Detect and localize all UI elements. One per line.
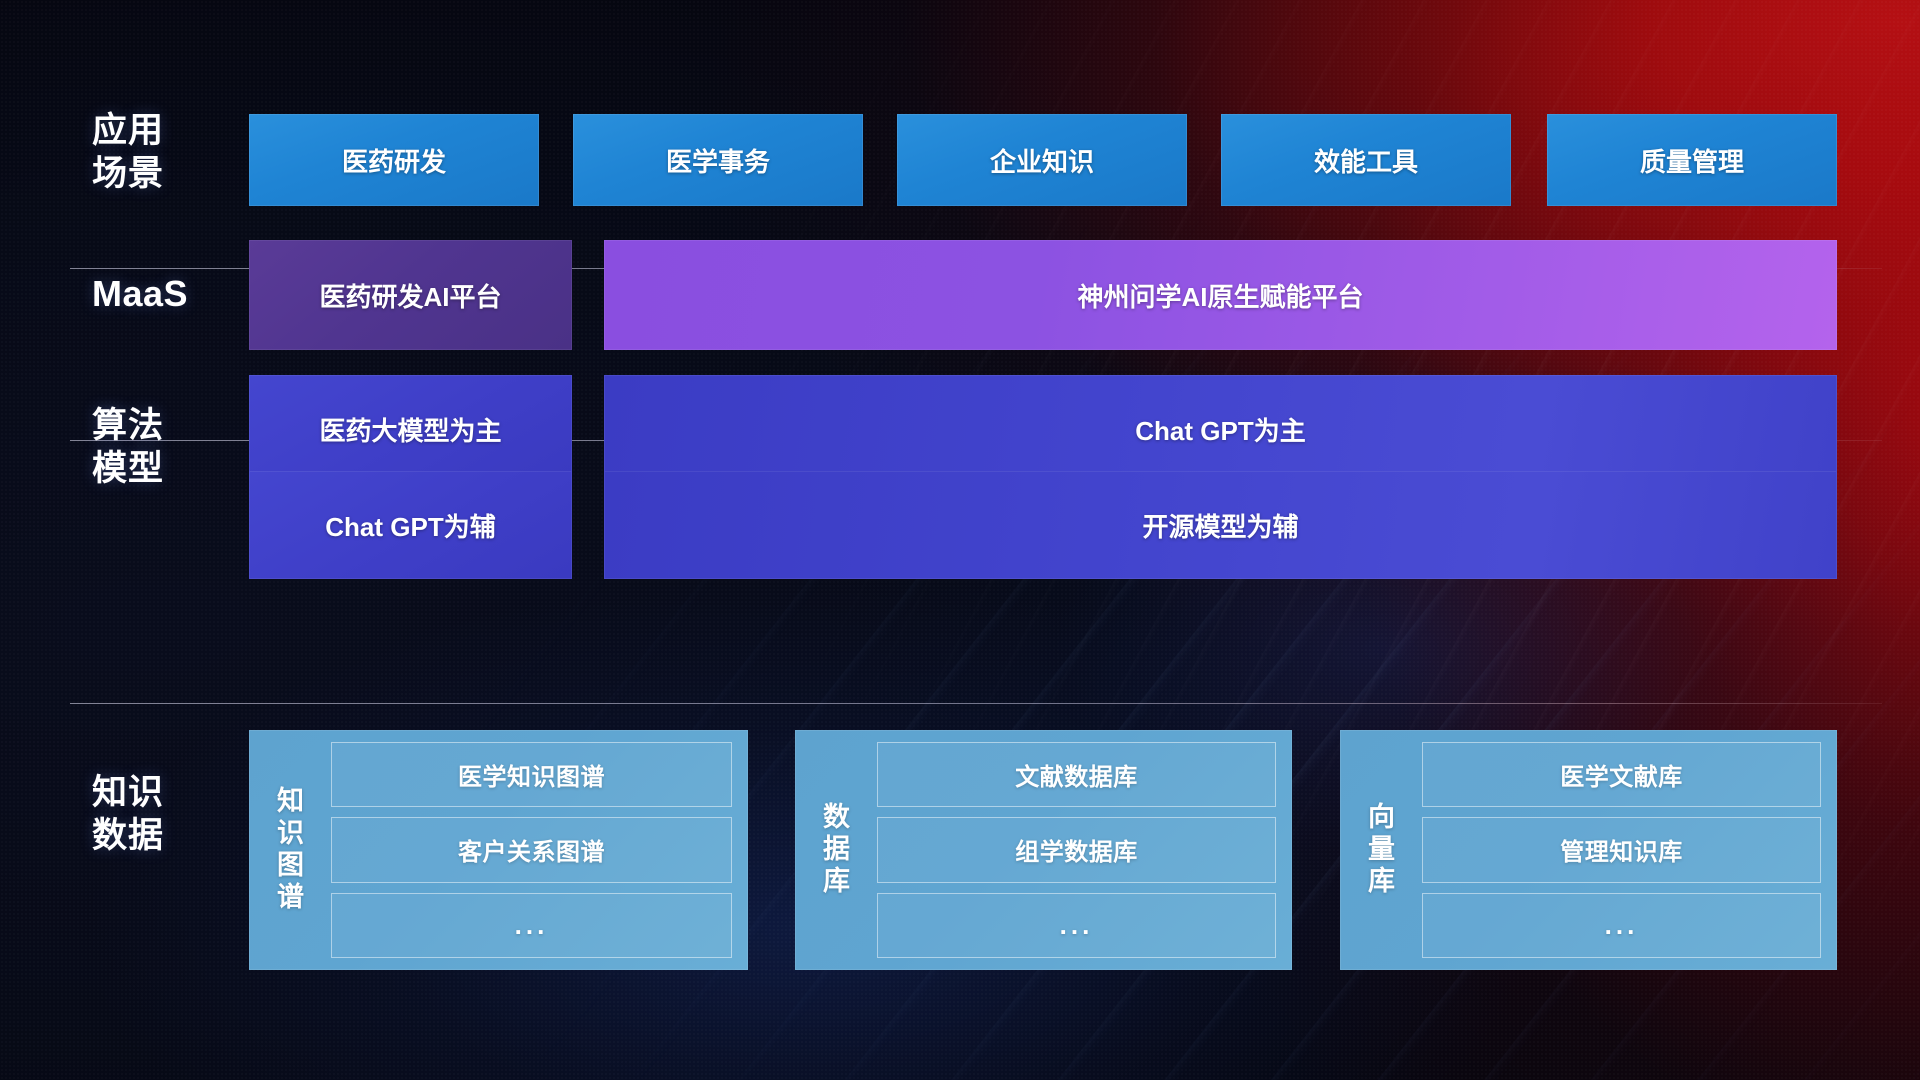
app-scenario-box[interactable]: 质量管理 (1547, 114, 1837, 206)
algorithm-label: Chat GPT为主 (1135, 411, 1305, 448)
row-label-maas: MaaS (92, 272, 232, 316)
app-scenario-box[interactable]: 企业知识 (897, 114, 1187, 206)
knowledge-item-more[interactable]: ... (331, 893, 732, 958)
algorithm-label: 医药大模型为主 (319, 411, 501, 448)
maas-platform-box-right[interactable]: 神州问学AI原生赋能平台 (604, 240, 1837, 350)
row-label-knowledge: 知识数据 (92, 772, 232, 857)
maas-platform-box-left[interactable]: 医药研发AI平台 (249, 240, 572, 350)
knowledge-group-title: 向量库 (1350, 802, 1414, 898)
row-label-algorithm: 算法模型 (92, 405, 232, 490)
algorithm-box-row1-left[interactable]: 医药大模型为主 (249, 375, 572, 483)
algorithm-box-row2-right[interactable]: 开源模型为辅 (604, 471, 1837, 579)
app-scenario-label: 企业知识 (990, 142, 1094, 179)
app-scenario-box[interactable]: 效能工具 (1221, 114, 1511, 206)
knowledge-item[interactable]: 文献数据库 (877, 742, 1276, 807)
algorithm-box-row1-right[interactable]: Chat GPT为主 (604, 375, 1837, 483)
maas-platform-label: 医药研发AI平台 (319, 277, 501, 314)
knowledge-item[interactable]: 医学文献库 (1422, 742, 1821, 807)
knowledge-group-items: 医学知识图谱 客户关系图谱 ... (323, 742, 732, 958)
algorithm-label: Chat GPT为辅 (325, 507, 495, 544)
knowledge-group-items: 医学文献库 管理知识库 ... (1414, 742, 1821, 958)
app-scenario-label: 效能工具 (1314, 142, 1418, 179)
algorithm-box-row2-left[interactable]: Chat GPT为辅 (249, 471, 572, 579)
algorithm-label: 开源模型为辅 (1142, 507, 1298, 544)
app-scenario-label: 质量管理 (1640, 142, 1744, 179)
knowledge-group[interactable]: 知识图谱 医学知识图谱 客户关系图谱 ... (249, 730, 748, 970)
knowledge-item-more[interactable]: ... (877, 893, 1276, 958)
knowledge-item[interactable]: 管理知识库 (1422, 817, 1821, 882)
app-scenario-box[interactable]: 医学事务 (573, 114, 863, 206)
row-label-application: 应用场景 (92, 110, 232, 195)
knowledge-item[interactable]: 组学数据库 (877, 817, 1276, 882)
knowledge-group[interactable]: 数据库 文献数据库 组学数据库 ... (795, 730, 1292, 970)
infographic-slide: 应用场景 MaaS 算法模型 知识数据 医药研发 医学事务 企业知识 效能工具 … (0, 0, 1920, 1080)
knowledge-item[interactable]: 客户关系图谱 (331, 817, 732, 882)
row-divider-3 (70, 703, 1882, 704)
knowledge-item-more[interactable]: ... (1422, 893, 1821, 958)
knowledge-item[interactable]: 医学知识图谱 (331, 742, 732, 807)
knowledge-group[interactable]: 向量库 医学文献库 管理知识库 ... (1340, 730, 1837, 970)
knowledge-group-title: 数据库 (805, 802, 869, 898)
app-scenario-label: 医药研发 (342, 142, 446, 179)
maas-platform-label: 神州问学AI原生赋能平台 (1077, 277, 1363, 314)
app-scenario-box[interactable]: 医药研发 (249, 114, 539, 206)
knowledge-group-items: 文献数据库 组学数据库 ... (869, 742, 1276, 958)
knowledge-group-title: 知识图谱 (259, 786, 323, 913)
diagram-content: 应用场景 MaaS 算法模型 知识数据 医药研发 医学事务 企业知识 效能工具 … (0, 0, 1920, 1080)
app-scenario-label: 医学事务 (666, 142, 770, 179)
